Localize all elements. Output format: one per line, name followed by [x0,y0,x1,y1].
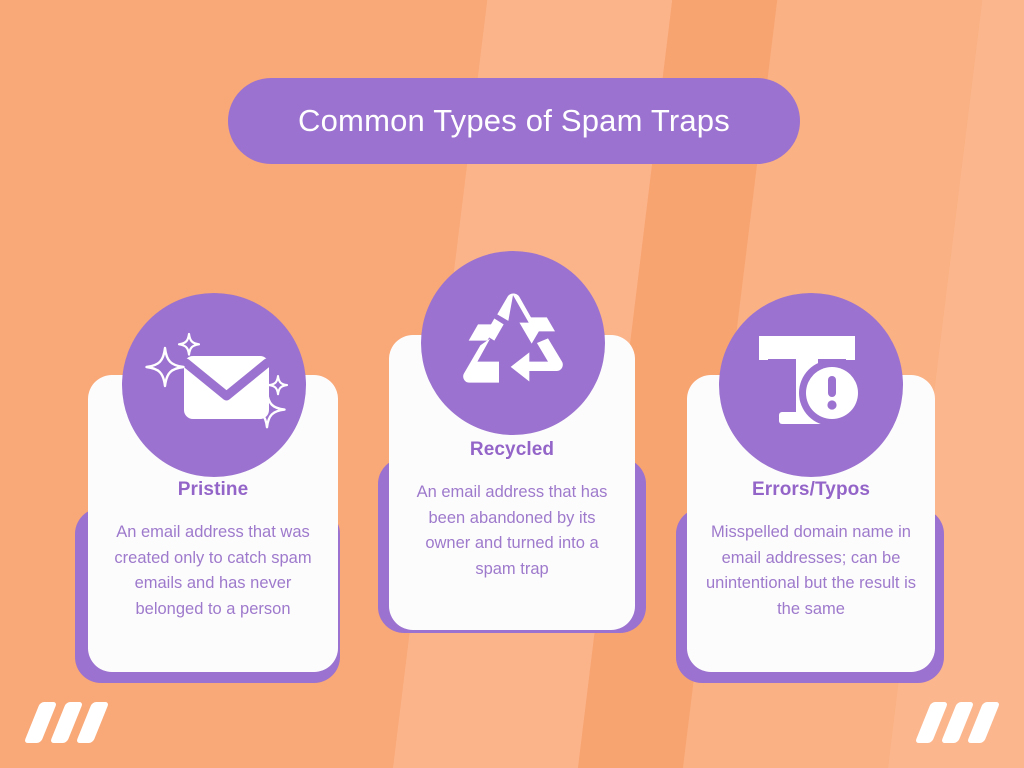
stripe-1 [915,702,949,743]
icon-circle-pristine [122,293,306,477]
infographic-canvas: Common Types of Spam Traps Pristine An e… [0,0,1024,768]
bottom-left-stripes [32,702,101,743]
stripe-2 [50,702,84,743]
text-warning-icon [746,326,876,444]
card-title-recycled: Recycled [470,439,554,461]
card-description-recycled: An email address that has been abandoned… [389,480,635,583]
stripe-2 [941,702,975,743]
icon-circle-errors-typos [719,293,903,477]
recycle-icon [454,287,572,399]
page-title: Common Types of Spam Traps [298,103,730,139]
card-title-errors-typos: Errors/Typos [752,479,870,501]
stripe-3 [76,702,110,743]
bottom-right-stripes [923,702,992,743]
card-title-pristine: Pristine [178,479,249,501]
stripe-1 [24,702,58,743]
stripe-3 [967,702,1001,743]
envelope-sparkle-icon [139,320,289,450]
card-description-errors-typos: Misspelled domain name in email addresse… [687,520,935,623]
page-title-pill: Common Types of Spam Traps [228,78,800,164]
card-description-pristine: An email address that was created only t… [88,520,338,623]
icon-circle-recycled [421,251,605,435]
